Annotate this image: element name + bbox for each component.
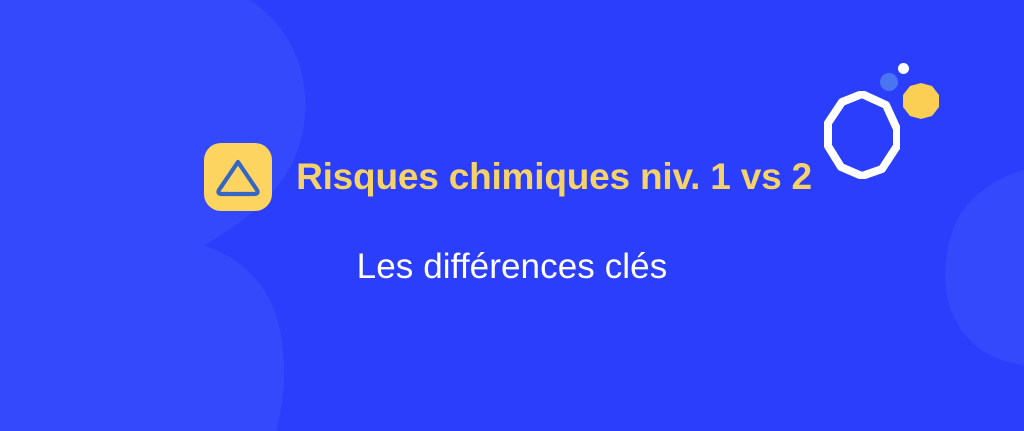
banner-content: Risques chimiques niv. 1 vs 2 Les différ…	[0, 0, 1024, 431]
warning-triangle-icon	[204, 143, 272, 211]
title-banner: Risques chimiques niv. 1 vs 2 Les différ…	[0, 0, 1024, 431]
title-row: Risques chimiques niv. 1 vs 2	[204, 143, 812, 211]
page-subtitle: Les différences clés	[357, 247, 668, 287]
page-title: Risques chimiques niv. 1 vs 2	[296, 157, 812, 198]
